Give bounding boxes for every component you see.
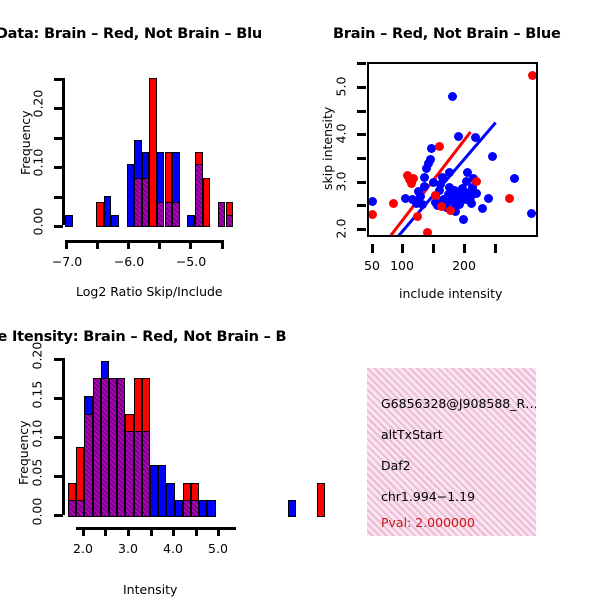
- scatter-point: [472, 189, 481, 198]
- ratio-y-tick-0.10: [54, 166, 63, 169]
- intensity-x-ticklabel-2.0: 2.0: [66, 541, 100, 556]
- bar-bin: [199, 500, 207, 518]
- bar-bin: [142, 431, 150, 517]
- scatter-y-tick-2.5: [357, 204, 366, 207]
- scatter-y-tick-2.0: [357, 228, 366, 231]
- scatter-y-ticklabel-2.0: 2.0: [334, 218, 349, 240]
- ratio-y-tick-0.05: [54, 196, 63, 199]
- ratio-y-ticklabel-0.20: 0.20: [31, 98, 46, 118]
- ratio-x-tick-5.0: [189, 240, 192, 249]
- scatter-point: [528, 71, 536, 80]
- scatter-x-ticklabel-100: 100: [382, 258, 422, 273]
- intensity-histogram-xlabel: Intensity: [123, 582, 177, 597]
- intensity-x-tick-2.0: [82, 527, 85, 536]
- scatter-y-tick-4.5: [357, 110, 366, 113]
- bar-bin: [127, 164, 135, 227]
- feature-event-type: altTxStart: [381, 427, 443, 442]
- bar-bin: [101, 378, 109, 517]
- bar-bin: [288, 500, 296, 518]
- scatter-y-tick-5.0: [357, 86, 366, 89]
- scatter-point: [471, 133, 480, 142]
- intensity-y-ticklabel-0.10: 0.10: [30, 426, 45, 448]
- scatter-plot-area: [369, 64, 536, 235]
- ratio-x-ticklabel--7.0: −7.0: [46, 254, 88, 269]
- feature-id: G6856328@J908588_R…: [381, 396, 536, 411]
- scatter-y-ticklabel-3.0: 3.0: [334, 171, 349, 193]
- intensity-x-ticklabel-3.0: 3.0: [111, 541, 145, 556]
- scatter-point: [437, 202, 446, 211]
- bar-bin: [117, 378, 125, 517]
- bar-bin: [157, 202, 165, 227]
- panel-feature-info: G6856328@J908588_R… altTxStart Daf2 chr1…: [300, 310, 600, 600]
- scatter-point: [488, 152, 497, 161]
- bar-bin: [172, 202, 180, 227]
- scatter-point: [454, 132, 463, 141]
- intensity-y-ticklabel-0.00: 0.00: [30, 504, 45, 526]
- figure-canvas: RatioData: Brain – Red, Not Brain – Blu …: [0, 0, 600, 600]
- intensity-y-ticklabel-0.20: 0.20: [30, 348, 45, 370]
- intensity-x-tick-3.0: [127, 527, 130, 536]
- bar-bin: [195, 164, 203, 227]
- bar-bin: [84, 414, 92, 517]
- bar-bin: [149, 78, 157, 227]
- scatter-point: [446, 206, 455, 215]
- scatter-x-tick-50: [371, 244, 374, 253]
- intensity-y-ticklabel-0.05: 0.05: [30, 465, 45, 487]
- feature-gene-name: Daf2: [381, 458, 411, 473]
- intensity-y-tick-0.10: [54, 436, 63, 439]
- feature-pvalue: Pval: 2.000000: [381, 515, 475, 530]
- scatter-x-ticklabel-200: 200: [444, 258, 484, 273]
- bar-bin: [166, 483, 174, 517]
- scatter-title: Brain – Red, Not Brain – Blue: [333, 26, 561, 42]
- ratio-histogram-title: RatioData: Brain – Red, Not Brain – Blu: [0, 26, 262, 42]
- scatter-point: [409, 174, 418, 183]
- scatter-point: [389, 199, 398, 208]
- bar-bin: [207, 500, 215, 518]
- intensity-x-tick-5.0: [217, 527, 220, 536]
- scatter-point: [420, 173, 429, 182]
- scatter-point: [459, 215, 468, 224]
- intensity-x-axis: [76, 527, 236, 530]
- scatter-point: [505, 194, 514, 203]
- ratio-y-tick-0.15: [54, 137, 63, 140]
- ratio-x-tick-7.0: [65, 240, 68, 249]
- intensity-x-tick-4.0: [172, 527, 175, 536]
- intensity-x-tick-4.5: [195, 527, 198, 536]
- intensity-x-ticklabel-5.0: 5.0: [201, 541, 235, 556]
- scatter-y-tick-3.5: [357, 157, 366, 160]
- scatter-y-tick-5.5: [357, 62, 366, 65]
- scatter-x-tick-250: [494, 244, 497, 253]
- intensity-histogram-plot-area: [64, 358, 234, 517]
- scatter-x-tick-200: [463, 244, 466, 253]
- scatter-point: [413, 212, 422, 221]
- scatter-y-ticklabel-4.0: 4.0: [334, 123, 349, 145]
- ratio-x-tick-6.0: [127, 240, 130, 249]
- bar-bin: [191, 500, 199, 518]
- bar-bin: [165, 202, 173, 227]
- panel-intensity-scatter: Brain – Red, Not Brain – Blue skip inten…: [300, 0, 600, 310]
- bar-bin: [125, 431, 133, 517]
- intensity-x-tick-3.5: [150, 527, 153, 536]
- ratio-y-ticklabel-0.10: 0.10: [31, 157, 46, 177]
- scatter-point: [527, 209, 536, 218]
- intensity-x-tick-2.5: [104, 527, 107, 536]
- scatter-y-tick-3.0: [357, 181, 366, 184]
- scatter-x-tick-150: [432, 244, 435, 253]
- ratio-y-ticklabel-0.00: 0.00: [31, 216, 46, 236]
- bar-bin: [183, 500, 191, 518]
- bar-bin: [134, 431, 142, 517]
- feature-info-box: G6856328@J908588_R… altTxStart Daf2 chr1…: [367, 368, 536, 536]
- ratio-x-tick-6.5: [96, 240, 99, 249]
- scatter-point: [423, 228, 432, 235]
- scatter-point: [420, 182, 429, 191]
- ratio-x-tick-4.5: [221, 240, 224, 249]
- ratio-x-axis: [65, 240, 224, 243]
- bar-bin: [226, 215, 234, 227]
- bar-bin: [96, 202, 104, 227]
- bar-bin: [68, 500, 76, 518]
- scatter-xlabel: include intensity: [399, 286, 502, 301]
- bar-bin: [187, 215, 195, 227]
- feature-locus: chr1.994−1.19: [381, 489, 475, 504]
- bar-bin: [65, 215, 73, 227]
- scatter-point: [418, 200, 427, 209]
- scatter-point: [369, 197, 377, 206]
- scatter-point: [369, 210, 377, 219]
- scatter-point: [448, 92, 457, 101]
- scatter-point: [484, 194, 493, 203]
- ratio-y-tick-0.20: [54, 107, 63, 110]
- bar-bin: [109, 378, 117, 517]
- scatter-point: [445, 168, 454, 177]
- scatter-y-ticklabel-5.0: 5.0: [334, 76, 349, 98]
- scatter-y-tick-4.0: [357, 133, 366, 136]
- scatter-point: [426, 155, 435, 164]
- bar-bin: [150, 465, 158, 517]
- intensity-y-tick-0.00: [54, 514, 63, 517]
- ratio-x-ticklabel--6.0: −6.0: [108, 254, 150, 269]
- bar-bin: [218, 202, 226, 227]
- bar-bin: [158, 465, 166, 517]
- scatter-point: [467, 199, 476, 208]
- ratio-histogram-xlabel: Log2 Ratio Skip/Include: [76, 284, 223, 299]
- bar-bin: [134, 178, 142, 228]
- ratio-y-tick-0.00: [54, 225, 63, 228]
- scatter-point: [510, 174, 519, 183]
- bar-bin: [93, 378, 101, 517]
- bar-bin: [76, 500, 84, 518]
- scatter-point: [472, 177, 481, 186]
- bar-bin: [142, 178, 150, 228]
- panel-gene-intensity-histogram: Gene Itensity: Brain – Red, Not Brain – …: [0, 310, 300, 600]
- ratio-x-ticklabel--5.0: −5.0: [170, 254, 212, 269]
- scatter-point: [435, 142, 444, 151]
- intensity-x-ticklabel-4.0: 4.0: [156, 541, 190, 556]
- intensity-y-tick-0.15: [54, 397, 63, 400]
- intensity-y-tick-0.20: [54, 358, 63, 361]
- scatter-point: [431, 191, 440, 200]
- ratio-x-tick-5.5: [158, 240, 161, 249]
- intensity-y-ticklabel-0.15: 0.15: [30, 387, 45, 409]
- panel-ratio-histogram: RatioData: Brain – Red, Not Brain – Blu …: [0, 0, 300, 310]
- bar-bin: [111, 215, 119, 227]
- ratio-y-tick-0.25: [54, 78, 63, 81]
- ratio-histogram-plot-area: [64, 78, 229, 227]
- bar-bin: [203, 178, 211, 228]
- bar-bin: [175, 500, 183, 518]
- intensity-y-tick-0.05: [54, 475, 63, 478]
- scatter-x-tick-100: [401, 244, 404, 253]
- bar-bin: [104, 196, 112, 227]
- scatter-point: [478, 204, 487, 213]
